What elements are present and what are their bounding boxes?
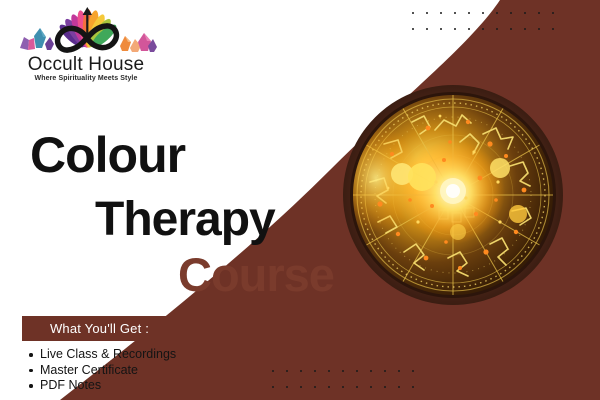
dot (408, 366, 418, 376)
dot (478, 8, 488, 18)
dot (394, 366, 404, 376)
brand-name: Occult House (12, 54, 160, 76)
dot (464, 8, 474, 18)
dot (422, 24, 432, 34)
dot (422, 8, 432, 18)
dot (520, 8, 530, 18)
dot (450, 24, 460, 34)
dot (366, 366, 376, 376)
infinity-lotus-crystals-logo (12, 6, 160, 58)
dot (282, 366, 292, 376)
offer-list: Live Class & Recordings Master Certifica… (22, 347, 232, 394)
dot (366, 382, 376, 392)
dot (436, 24, 446, 34)
headline-block: Colour Therapy Course (0, 118, 380, 293)
dot (268, 382, 278, 392)
headline-line-course: Course (178, 251, 334, 298)
dot (408, 8, 418, 18)
dot (310, 366, 320, 376)
list-item: Live Class & Recordings (40, 347, 232, 363)
dot (408, 24, 418, 34)
dot (296, 366, 306, 376)
dot-pattern-bottom (268, 366, 422, 398)
dot (548, 24, 558, 34)
dot (492, 24, 502, 34)
dot (534, 24, 544, 34)
dot (492, 8, 502, 18)
brand-tagline: Where Spirituality Meets Style (12, 75, 160, 82)
offer-block: What You'll Get : Live Class & Recording… (22, 316, 232, 394)
dot (436, 8, 446, 18)
dot (310, 382, 320, 392)
dot (548, 8, 558, 18)
dot (478, 24, 488, 34)
dot (324, 366, 334, 376)
dot (506, 24, 516, 34)
headline-line-colour: Colour (30, 130, 185, 180)
dot (338, 382, 348, 392)
dot (352, 366, 362, 376)
dot (450, 8, 460, 18)
dot (380, 382, 390, 392)
dot (520, 24, 530, 34)
dot (268, 366, 278, 376)
dot (394, 382, 404, 392)
list-item: Master Certificate (40, 363, 232, 379)
promo-banner: Occult House Where Spirituality Meets St… (0, 0, 600, 400)
crystal-cluster-left-icon (20, 28, 54, 50)
dot (352, 382, 362, 392)
headline-line-therapy: Therapy (95, 196, 275, 244)
dot (380, 366, 390, 376)
dot (282, 382, 292, 392)
dot (324, 382, 334, 392)
brand-logo[interactable]: Occult House Where Spirituality Meets St… (12, 6, 160, 84)
dot (408, 382, 418, 392)
dot (296, 382, 306, 392)
dot (338, 366, 348, 376)
dot (506, 8, 516, 18)
list-item: PDF Notes (40, 378, 232, 394)
dot (464, 24, 474, 34)
dot (534, 8, 544, 18)
dot-pattern-top (408, 8, 562, 40)
offer-banner: What You'll Get : (22, 316, 177, 341)
crystal-cluster-right-icon (120, 33, 157, 52)
